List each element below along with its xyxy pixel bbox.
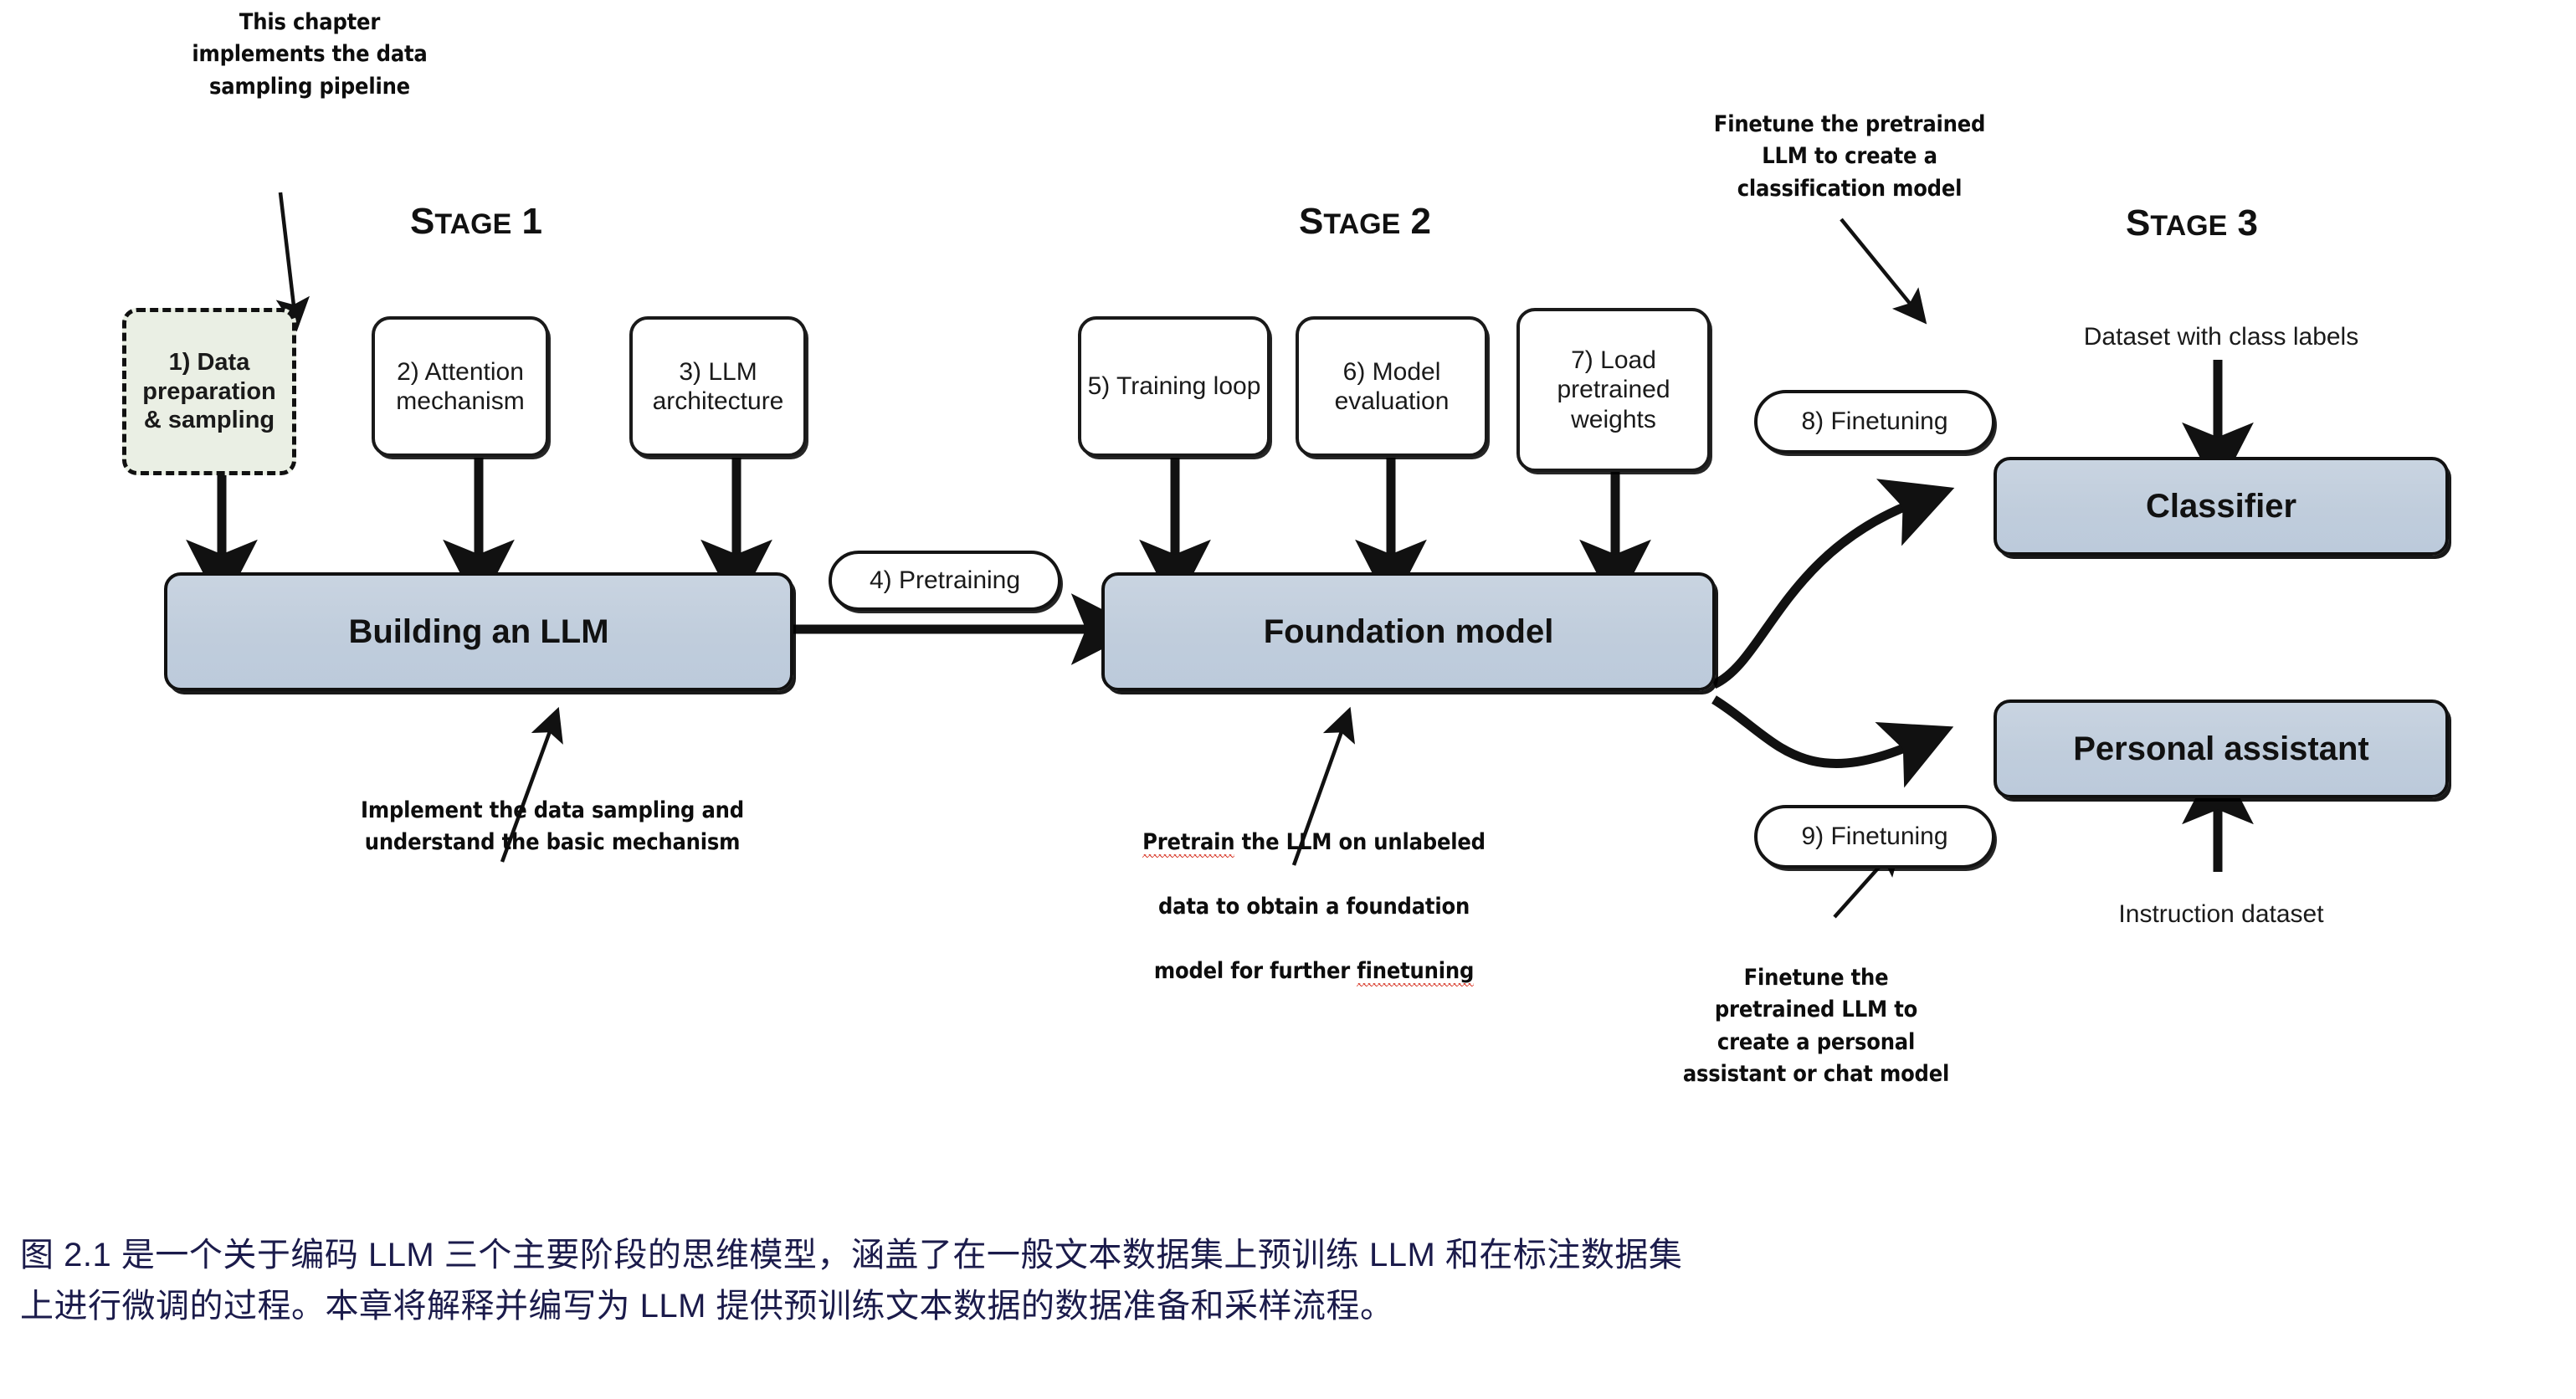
figure-caption: 图 2.1 是一个关于编码 LLM 三个主要阶段的思维模型，涵盖了在一般文本数据… bbox=[20, 1230, 2556, 1332]
step-box-training-loop[interactable]: 5) Training loop bbox=[1078, 316, 1270, 457]
note-pretrain-rest1: the LLM on unlabeled bbox=[1234, 829, 1485, 855]
caption-instruction-dataset: Instruction dataset bbox=[1994, 900, 2449, 929]
stage-3-word: TAGE bbox=[2150, 210, 2227, 242]
note-implement-data-sampling: Implement the data sampling and understa… bbox=[268, 795, 837, 859]
note-this-chapter: This chapter implements the data samplin… bbox=[176, 7, 444, 103]
note-pretrain-line3a: model for further bbox=[1154, 958, 1357, 984]
note-finetune-personal-assistant: Finetune the pretrained LLM to create a … bbox=[1598, 962, 2034, 1090]
note-finetune-classification: Finetune the pretrained LLM to create a … bbox=[1632, 109, 2067, 205]
model-box-personal-assistant[interactable]: Personal assistant bbox=[1994, 699, 2449, 798]
stage-2-initial: S bbox=[1299, 201, 1323, 242]
note-pretrain-llm: Pretrain the LLM on unlabeled data to ob… bbox=[1063, 795, 1565, 987]
stage-1-initial: S bbox=[410, 201, 434, 242]
spellcheck-word-finetuning: finetuning bbox=[1357, 958, 1474, 986]
figure-canvas: This chapter implements the data samplin… bbox=[0, 0, 2576, 1399]
figure-caption-line-1: 图 2.1 是一个关于编码 LLM 三个主要阶段的思维模型，涵盖了在一般文本数据… bbox=[20, 1230, 2556, 1281]
note-pretrain-line2: data to obtain a foundation bbox=[1158, 894, 1470, 920]
pill-pretraining[interactable]: 4) Pretraining bbox=[829, 551, 1061, 611]
caption-dataset-with-class-labels: Dataset with class labels bbox=[1994, 323, 2449, 351]
pill-finetuning-8[interactable]: 8) Finetuning bbox=[1754, 390, 1995, 454]
step-box-data-preparation-sampling[interactable]: 1) Data preparation & sampling bbox=[122, 308, 296, 475]
stage-1-word: TAGE bbox=[434, 208, 511, 240]
step-box-load-pretrained-weights[interactable]: 7) Load pretrained weights bbox=[1516, 308, 1711, 472]
arrow-classification-note-to-finetuning8 bbox=[1841, 219, 1915, 310]
pill-finetuning-9[interactable]: 9) Finetuning bbox=[1754, 805, 1995, 869]
stage-heading-1: STAGE 1 bbox=[410, 201, 542, 243]
stage-heading-2: STAGE 2 bbox=[1299, 201, 1431, 243]
model-box-classifier[interactable]: Classifier bbox=[1994, 457, 2449, 556]
spellcheck-word-pretrain: Pretrain bbox=[1142, 829, 1234, 858]
stage-heading-3: STAGE 3 bbox=[2126, 202, 2258, 244]
step-box-llm-architecture[interactable]: 3) LLM architecture bbox=[629, 316, 807, 457]
figure-caption-line-2: 上进行微调的过程。本章将解释并编写为 LLM 提供预训练文本数据的数据准备和采样… bbox=[20, 1281, 2556, 1332]
arrow-foundation-to-personal-assistant bbox=[1714, 699, 1917, 764]
stage-2-space bbox=[1400, 201, 1410, 242]
model-box-foundation-model[interactable]: Foundation model bbox=[1101, 572, 1716, 691]
stage-3-num: 3 bbox=[2238, 202, 2258, 243]
step-box-model-evaluation[interactable]: 6) Model evaluation bbox=[1296, 316, 1488, 457]
stage-2-num: 2 bbox=[1411, 201, 1431, 242]
arrow-foundation-to-classifier bbox=[1714, 502, 1917, 684]
arrow-chapter-to-data-prep bbox=[280, 192, 295, 313]
stage-3-initial: S bbox=[2126, 202, 2150, 243]
stage-1-num: 1 bbox=[522, 201, 542, 242]
stage-3-space bbox=[2227, 202, 2237, 243]
step-box-attention-mechanism[interactable]: 2) Attention mechanism bbox=[372, 316, 549, 457]
stage-1-number bbox=[511, 201, 521, 242]
stage-2-word: TAGE bbox=[1323, 208, 1400, 240]
model-box-building-an-llm[interactable]: Building an LLM bbox=[164, 572, 793, 691]
